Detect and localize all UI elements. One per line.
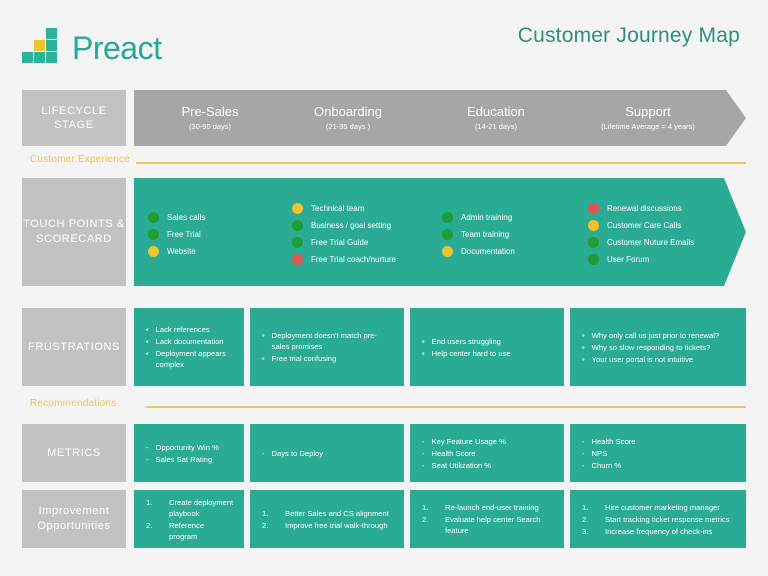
- status-dot-yellow: [442, 246, 453, 257]
- brand-logo: Preact: [22, 18, 161, 64]
- bullet-icon: •: [262, 330, 265, 352]
- frustrations-cell-pre-sales[interactable]: •Lack references •Lack documentation •De…: [134, 308, 244, 386]
- list-item-text: Evaluate help center Search feature: [445, 514, 554, 536]
- stage-title: Support: [625, 104, 671, 120]
- frustrations-list: •End users struggling •Help center hard …: [422, 335, 554, 360]
- status-dot-red: [292, 254, 303, 265]
- list-item: •Lack references: [146, 324, 234, 335]
- list-item: 3.Increase frequency of check-ins: [582, 526, 736, 537]
- list-item-text: Health Score: [432, 448, 554, 459]
- touchpoints-cell-support[interactable]: Renewal discussions Customer Care Calls …: [554, 178, 746, 286]
- list-item-text: NPS: [592, 448, 736, 459]
- row-label-metrics: METRICS: [22, 424, 126, 482]
- metrics-row: METRICS -Opportunity Win % -Sales Sat Ra…: [0, 424, 768, 482]
- list-item: 2.Improve free trial walk-through: [262, 520, 394, 531]
- status-dot-yellow: [588, 220, 599, 231]
- list-item: -Health Score: [422, 448, 554, 459]
- frustrations-cell-education[interactable]: •End users struggling •Help center hard …: [410, 308, 564, 386]
- touchpoints-row: TOUCH POINTS & SCORECARD Sales calls Fre…: [0, 178, 768, 286]
- lifecycle-stage-onboarding[interactable]: Onboarding (21-35 days ): [262, 90, 442, 146]
- touchpoint-item: Technical team: [292, 203, 434, 214]
- touchpoint-item: Team training: [442, 229, 578, 240]
- metrics-list: -Opportunity Win % -Sales Sat Rating: [146, 441, 234, 466]
- lifecycle-stage-education[interactable]: Education (14-21 days): [410, 90, 590, 146]
- status-dot-green: [148, 212, 159, 223]
- touchpoint-label: Documentation: [461, 246, 515, 257]
- stage-duration: (14-21 days): [475, 122, 517, 132]
- stage-duration: (Lifetime Average = 4 years): [601, 122, 695, 132]
- list-item: •Deployment doesn't match pre-sales prom…: [262, 330, 394, 352]
- improvements-list: 1.Hire customer marketing manager 2.Star…: [582, 501, 736, 538]
- bullet-icon: •: [582, 354, 585, 365]
- touchpoint-item: Free Trial Guide: [292, 237, 434, 248]
- touchpoint-item: Documentation: [442, 246, 578, 257]
- list-item-text: Deployment appears complex: [156, 348, 234, 370]
- bullet-icon: •: [582, 342, 585, 353]
- list-item-text: Key Feature Usage %: [432, 436, 554, 447]
- touchpoint-label: Business / goal setting: [311, 220, 391, 231]
- metrics-list: -Key Feature Usage % -Health Score -Seat…: [422, 435, 554, 472]
- touchpoint-label: Technical team: [311, 203, 364, 214]
- list-item: •Your user portal is not intuitive: [582, 354, 736, 365]
- improvement-opportunities-row: Improvement Opportunities 1.Create deplo…: [0, 490, 768, 548]
- lifecycle-stage-row: LIFECYCLE STAGE Pre-Sales (30-90 days) O…: [0, 90, 768, 146]
- list-number: 3.: [582, 526, 598, 537]
- status-dot-green: [588, 237, 599, 248]
- list-item: •Why only call us just prior to renewal?: [582, 330, 736, 341]
- frustrations-list: •Why only call us just prior to renewal?…: [582, 329, 736, 366]
- list-number: 2.: [582, 514, 598, 525]
- touchpoint-item: Free Trial coach/nurture: [292, 254, 434, 265]
- touchpoint-item: Customer Nuture Emails: [588, 237, 736, 248]
- brand-wordmark: Preact: [72, 31, 161, 65]
- list-number: 2.: [146, 520, 162, 542]
- dash-icon: -: [582, 436, 585, 447]
- list-item-text: Your user portal is not intuitive: [592, 354, 736, 365]
- stage-title: Pre-Sales: [181, 104, 238, 120]
- touchpoint-item: Admin training: [442, 212, 578, 223]
- touchpoint-label: Free Trial coach/nurture: [311, 254, 396, 265]
- touchpoint-label: Renewal discussions: [607, 203, 682, 214]
- list-item: 2.Evaluate help center Search feature: [422, 514, 554, 536]
- improvements-cell-pre-sales[interactable]: 1.Create deployment playbook 2.Reference…: [134, 490, 244, 548]
- row-label-improvement-opportunities: Improvement Opportunities: [22, 490, 126, 548]
- improvements-cell-education[interactable]: 1.Re-launch end-user training 2.Evaluate…: [410, 490, 564, 548]
- list-item-text: Seat Utilization %: [432, 460, 554, 471]
- improvements-cell-onboarding[interactable]: 1.Better Sales and CS alignment 2.Improv…: [250, 490, 404, 548]
- section-label: Recommendations: [30, 398, 116, 409]
- list-item-text: End users struggling: [432, 336, 554, 347]
- list-item-text: Start tracking ticket response metrics: [605, 514, 736, 525]
- list-item-text: Increase frequency of check-ins: [605, 526, 736, 537]
- list-item-text: Lack references: [156, 324, 234, 335]
- metrics-list: -Health Score -NPS -Churn %: [582, 435, 736, 472]
- list-item: •Help center hard to use: [422, 348, 554, 359]
- list-item: -Key Feature Usage %: [422, 436, 554, 447]
- list-number: 1.: [582, 502, 598, 513]
- stage-title: Education: [467, 104, 525, 120]
- status-dot-green: [442, 229, 453, 240]
- bullet-icon: •: [146, 348, 149, 370]
- list-item-text: Churn %: [592, 460, 736, 471]
- improvements-list: 1.Re-launch end-user training 2.Evaluate…: [422, 501, 554, 537]
- list-item: -NPS: [582, 448, 736, 459]
- list-item-text: Reference program: [169, 520, 234, 542]
- touchpoint-label: Admin training: [461, 212, 512, 223]
- list-item: •Deployment appears complex: [146, 348, 234, 370]
- list-item-text: Help center hard to use: [432, 348, 554, 359]
- stage-duration: (30-90 days): [189, 122, 231, 132]
- list-item: 1.Better Sales and CS alignment: [262, 508, 394, 519]
- dash-icon: -: [422, 448, 425, 459]
- metrics-cell-onboarding[interactable]: -Days to Deploy: [250, 424, 404, 482]
- touchpoint-label: Sales calls: [167, 212, 205, 223]
- list-item: 1.Hire customer marketing manager: [582, 502, 736, 513]
- dash-icon: -: [146, 442, 149, 453]
- list-item: •Free trial confusing: [262, 353, 394, 364]
- list-item: -Seat Utilization %: [422, 460, 554, 471]
- list-number: 1.: [422, 502, 438, 513]
- list-item: •Lack documentation: [146, 336, 234, 347]
- status-dot-yellow: [292, 203, 303, 214]
- metrics-cell-support[interactable]: -Health Score -NPS -Churn %: [570, 424, 746, 482]
- frustrations-list: •Lack references •Lack documentation •De…: [146, 323, 234, 371]
- list-item-text: Re-launch end-user training: [445, 502, 554, 513]
- metrics-cell-education[interactable]: -Key Feature Usage % -Health Score -Seat…: [410, 424, 564, 482]
- preact-logo-icon: [22, 26, 64, 64]
- bullet-icon: •: [146, 336, 149, 347]
- dash-icon: -: [146, 454, 149, 465]
- dash-icon: -: [582, 460, 585, 471]
- touchpoint-label: Customer Nuture Emails: [607, 237, 694, 248]
- list-item-text: Create deployment playbook: [169, 497, 234, 519]
- list-item: -Health Score: [582, 436, 736, 447]
- touchpoint-item: User Forum: [588, 254, 736, 265]
- lifecycle-stage-support[interactable]: Support (Lifetime Average = 4 years): [558, 90, 746, 146]
- list-item-text: Why so slow responding to tickets?: [592, 342, 736, 353]
- bullet-icon: •: [262, 353, 265, 364]
- status-dot-green: [588, 254, 599, 265]
- bullet-icon: •: [146, 324, 149, 335]
- list-item: -Churn %: [582, 460, 736, 471]
- list-item: 1.Create deployment playbook: [146, 497, 234, 519]
- section-divider-recommendations: Recommendations: [22, 398, 746, 416]
- bullet-icon: •: [582, 330, 585, 341]
- frustrations-list: •Deployment doesn't match pre-sales prom…: [262, 329, 394, 365]
- touchpoint-item: Customer Care Calls: [588, 220, 736, 231]
- list-item-text: Days to Deploy: [272, 448, 394, 459]
- stage-title: Onboarding: [314, 104, 382, 120]
- list-item-text: Free trial confusing: [272, 353, 394, 364]
- list-item: 2.Reference program: [146, 520, 234, 542]
- dash-icon: -: [262, 448, 265, 459]
- section-label: Customer Experience: [30, 154, 130, 165]
- journey-map-slide: Preact Customer Journey Map LIFECYCLE ST…: [0, 0, 768, 576]
- list-item-text: Why only call us just prior to renewal?: [592, 330, 736, 341]
- slide-header: Preact Customer Journey Map: [0, 0, 768, 80]
- row-label-touchpoints: TOUCH POINTS & SCORECARD: [22, 178, 126, 286]
- stage-duration: (21-35 days ): [326, 122, 370, 132]
- list-item: •End users struggling: [422, 336, 554, 347]
- list-item-text: Better Sales and CS alignment: [285, 508, 394, 519]
- list-item: -Days to Deploy: [262, 448, 394, 459]
- list-number: 1.: [146, 497, 162, 519]
- bullet-icon: •: [422, 336, 425, 347]
- list-item: -Opportunity Win %: [146, 442, 234, 453]
- list-item-text: Deployment doesn't match pre-sales promi…: [272, 330, 394, 352]
- touchpoint-label: Free Trial: [167, 229, 201, 240]
- section-divider-customer-experience: Customer Experience: [22, 154, 746, 172]
- dash-icon: -: [582, 448, 585, 459]
- touchpoint-item: Free Trial: [148, 229, 284, 240]
- frustrations-cell-support[interactable]: •Why only call us just prior to renewal?…: [570, 308, 746, 386]
- list-item-text: Hire customer marketing manager: [605, 502, 736, 513]
- touchpoint-label: Customer Care Calls: [607, 220, 681, 231]
- touchpoint-item: Website: [148, 246, 284, 257]
- page-title: Customer Journey Map: [518, 24, 740, 48]
- touchpoint-label: Website: [167, 246, 196, 257]
- frustrations-cell-onboarding[interactable]: •Deployment doesn't match pre-sales prom…: [250, 308, 404, 386]
- row-label-lifecycle-stage: LIFECYCLE STAGE: [22, 90, 126, 146]
- status-dot-red: [588, 203, 599, 214]
- improvements-cell-support[interactable]: 1.Hire customer marketing manager 2.Star…: [570, 490, 746, 548]
- list-item-text: Sales Sat Rating: [156, 454, 234, 465]
- status-dot-green: [292, 237, 303, 248]
- list-item-text: Opportunity Win %: [156, 442, 234, 453]
- list-item: 2.Start tracking ticket response metrics: [582, 514, 736, 525]
- list-number: 2.: [262, 520, 278, 531]
- metrics-list: -Days to Deploy: [262, 447, 394, 460]
- status-dot-green: [148, 229, 159, 240]
- touchpoint-label: Free Trial Guide: [311, 237, 368, 248]
- list-item-text: Health Score: [592, 436, 736, 447]
- list-item-text: Lack documentation: [156, 336, 234, 347]
- status-dot-yellow: [148, 246, 159, 257]
- touchpoint-label: Team training: [461, 229, 509, 240]
- touchpoint-item: Sales calls: [148, 212, 284, 223]
- dash-icon: -: [422, 436, 425, 447]
- metrics-cell-pre-sales[interactable]: -Opportunity Win % -Sales Sat Rating: [134, 424, 244, 482]
- list-item: -Sales Sat Rating: [146, 454, 234, 465]
- list-item-text: Improve free trial walk-through: [285, 520, 394, 531]
- improvements-list: 1.Better Sales and CS alignment 2.Improv…: [262, 507, 394, 532]
- improvements-list: 1.Create deployment playbook 2.Reference…: [146, 496, 234, 543]
- dash-icon: -: [422, 460, 425, 471]
- status-dot-green: [292, 220, 303, 231]
- divider-line: [136, 162, 746, 164]
- frustrations-row: FRUSTRATIONS •Lack references •Lack docu…: [0, 308, 768, 386]
- divider-line: [146, 406, 746, 408]
- touchpoint-item: Business / goal setting: [292, 220, 434, 231]
- touchpoint-label: User Forum: [607, 254, 649, 265]
- bullet-icon: •: [422, 348, 425, 359]
- touchpoint-item: Renewal discussions: [588, 203, 736, 214]
- list-number: 1.: [262, 508, 278, 519]
- list-item: 1.Re-launch end-user training: [422, 502, 554, 513]
- row-label-frustrations: FRUSTRATIONS: [22, 308, 126, 386]
- list-number: 2.: [422, 514, 438, 536]
- list-item: •Why so slow responding to tickets?: [582, 342, 736, 353]
- status-dot-green: [442, 212, 453, 223]
